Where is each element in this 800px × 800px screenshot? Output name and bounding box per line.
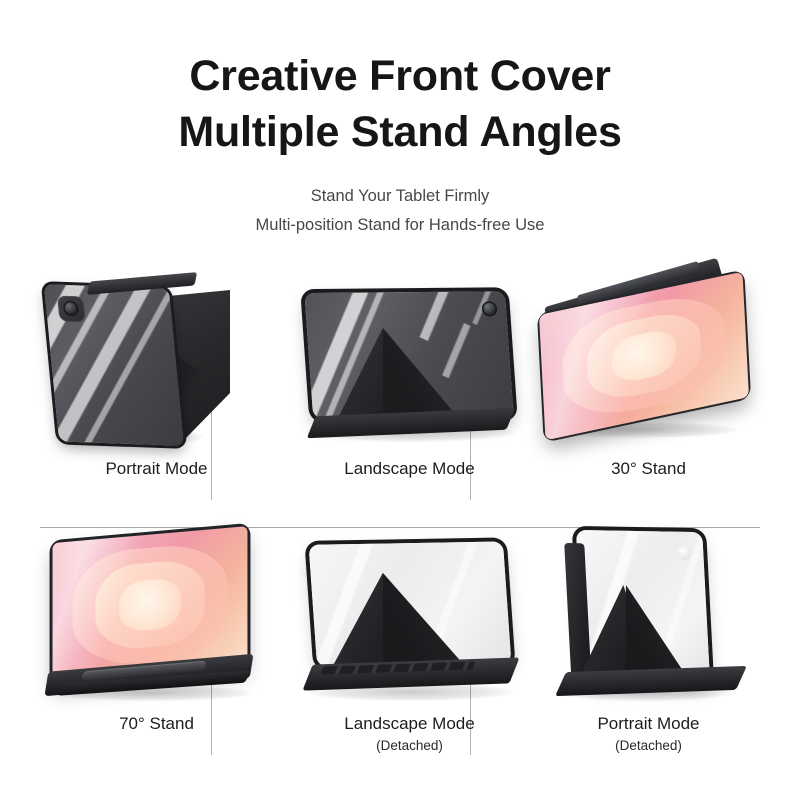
feature-cell-70-degree-stand: 70° Stand [30,527,283,777]
caption-text: Portrait Mode [597,714,699,733]
product-image-tablet-portrait-icon [30,272,283,460]
caption-text: Landscape Mode [344,714,474,733]
camera-lens-icon [63,301,80,316]
feature-cell-landscape-mode-detached: Landscape Mode (Detached) [283,527,536,777]
product-image-tablet-angle-30-icon [522,272,775,460]
caption-text: Portrait Mode [105,459,207,478]
feature-caption: Portrait Mode [30,458,283,480]
caption-note: (Detached) [283,736,536,755]
caption-text: Landscape Mode [344,459,474,478]
feature-caption: Landscape Mode (Detached) [283,713,536,755]
product-feature-page: Creative Front Cover Multiple Stand Angl… [0,0,800,800]
headline-line-2: Multiple Stand Angles [0,104,800,160]
feature-grid: Portrait Mode [0,272,800,772]
feature-caption: Portrait Mode (Detached) [522,713,775,755]
product-image-case-landscape-icon [283,527,536,715]
product-image-tablet-landscape-icon [283,272,536,460]
feature-cell-30-degree-stand: 30° Stand [522,272,775,522]
product-image-case-portrait-icon [522,527,775,715]
feature-cell-portrait-mode-detached: Portrait Mode (Detached) [522,527,775,777]
caption-note: (Detached) [522,736,775,755]
subtitle-line-1: Stand Your Tablet Firmly [311,187,490,205]
caption-text: 30° Stand [611,459,686,478]
caption-text: 70° Stand [119,714,194,733]
grid-row: Portrait Mode [0,272,800,522]
headline-line-1: Creative Front Cover [189,52,610,100]
feature-caption: 30° Stand [522,458,775,480]
grid-row: 70° Stand [0,527,800,777]
subtitle-line-2: Multi-position Stand for Hands-free Use [0,211,800,240]
feature-cell-landscape-mode: Landscape Mode [283,272,536,522]
feature-caption: 70° Stand [30,713,283,735]
camera-lens-icon [481,301,497,316]
page-subtitle: Stand Your Tablet Firmly Multi-position … [0,182,800,240]
tablet-wallpaper [539,272,749,441]
product-image-tablet-angle-70-icon [30,527,283,715]
page-title: Creative Front Cover Multiple Stand Angl… [0,48,800,160]
feature-caption: Landscape Mode [283,458,536,480]
feature-cell-portrait-mode: Portrait Mode [30,272,283,522]
